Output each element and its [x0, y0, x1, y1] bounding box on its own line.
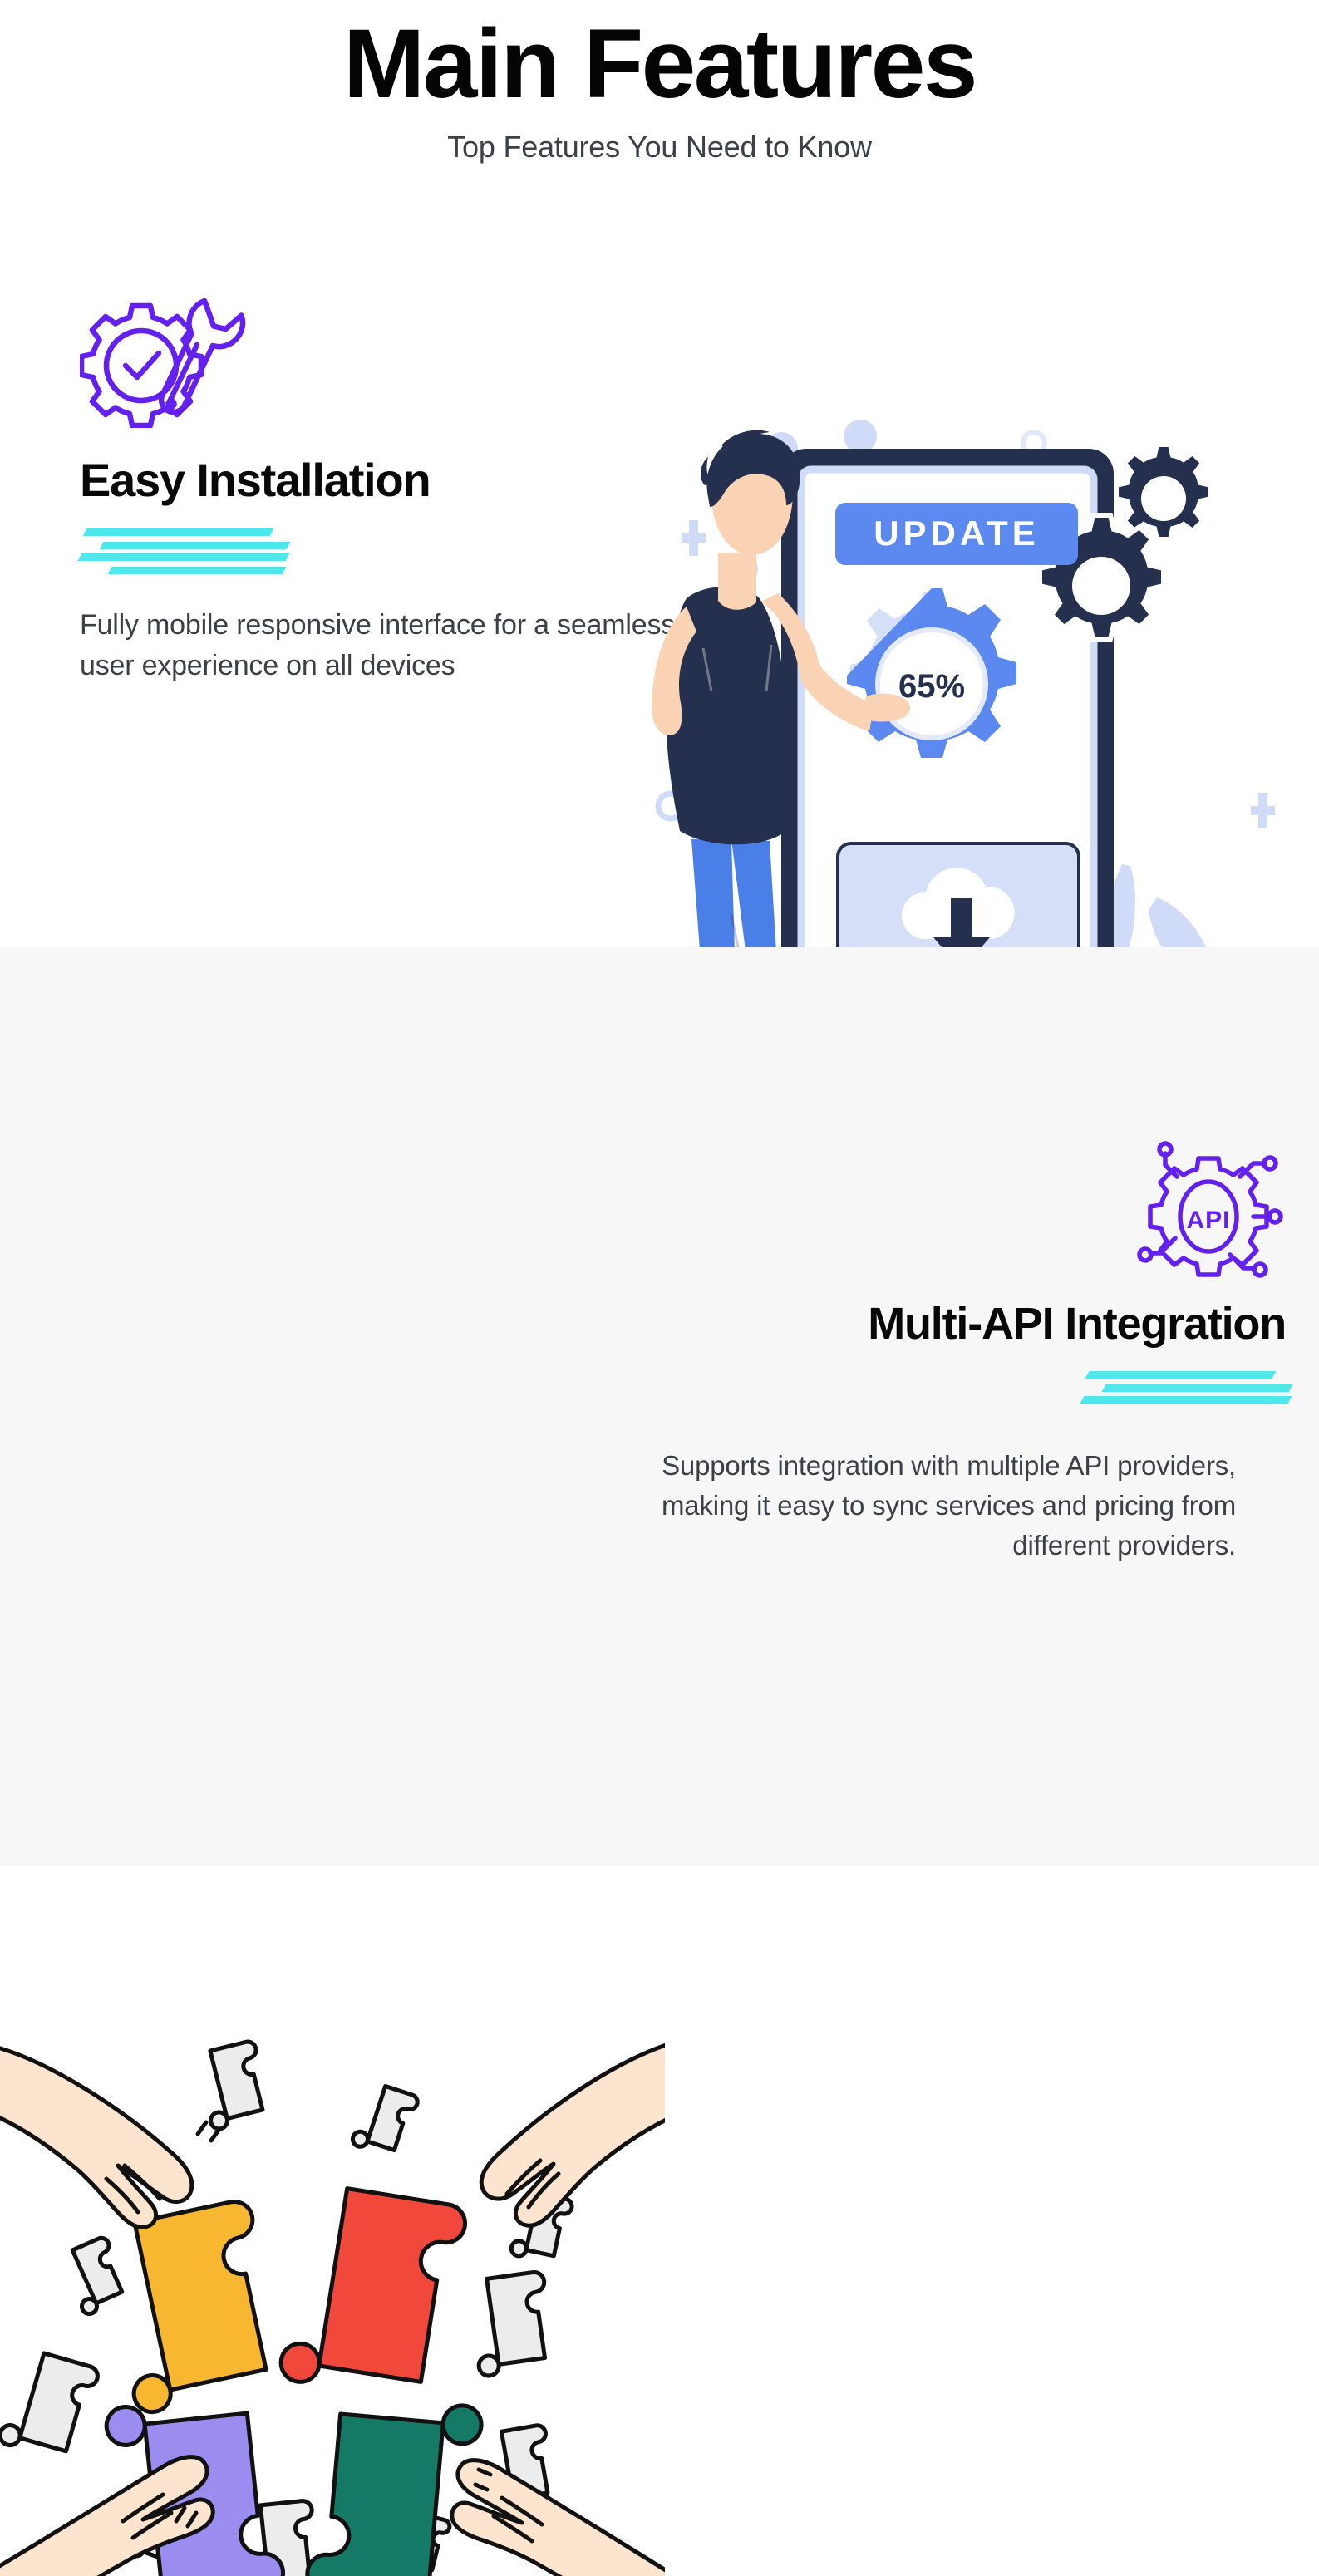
api-gear-circuit-icon: API — [1132, 1138, 1286, 1280]
divider-line — [1102, 1384, 1293, 1392]
puzzle-pieces-hands-illustration — [0, 2003, 665, 2576]
feature-section-easy-installation: Easy Installation Fully mobile responsiv… — [0, 199, 1319, 947]
update-button-label: UPDATE — [874, 514, 1040, 553]
page-header: Main Features Top Features You Need to K… — [0, 0, 1319, 199]
page-subtitle: Top Features You Need to Know — [447, 130, 872, 165]
feature-description: Fully mobile responsive interface for a … — [80, 605, 678, 687]
puzzle-piece-teal — [306, 2393, 483, 2576]
title-divider — [80, 528, 283, 570]
divider-line — [108, 567, 287, 574]
divider-line — [1085, 1371, 1277, 1379]
divider-line — [83, 528, 274, 536]
title-divider — [1082, 1371, 1286, 1413]
feature-text-block-1: Easy Installation Fully mobile responsiv… — [80, 291, 678, 687]
progress-percent-label: 65% — [898, 668, 965, 705]
divider-line — [1080, 1396, 1292, 1404]
feature-description: Supports integration with multiple API p… — [637, 1446, 1236, 1566]
feature-title: Multi-API Integration — [637, 1298, 1286, 1349]
divider-line — [78, 553, 290, 561]
divider-line — [100, 542, 291, 549]
puzzle-piece-red — [278, 2182, 468, 2403]
puzzle-piece-yellow — [99, 2198, 288, 2415]
api-icon-label: API — [1186, 1207, 1230, 1234]
feature-section-multi-api: API Multi-API Integration Supports integ… — [0, 947, 1319, 1866]
feature-title: Easy Installation — [80, 453, 678, 507]
gear-wrench-check-icon — [80, 291, 254, 428]
page-title: Main Features — [343, 15, 976, 113]
feature-text-block-2: API Multi-API Integration Supports integ… — [637, 1138, 1286, 1566]
